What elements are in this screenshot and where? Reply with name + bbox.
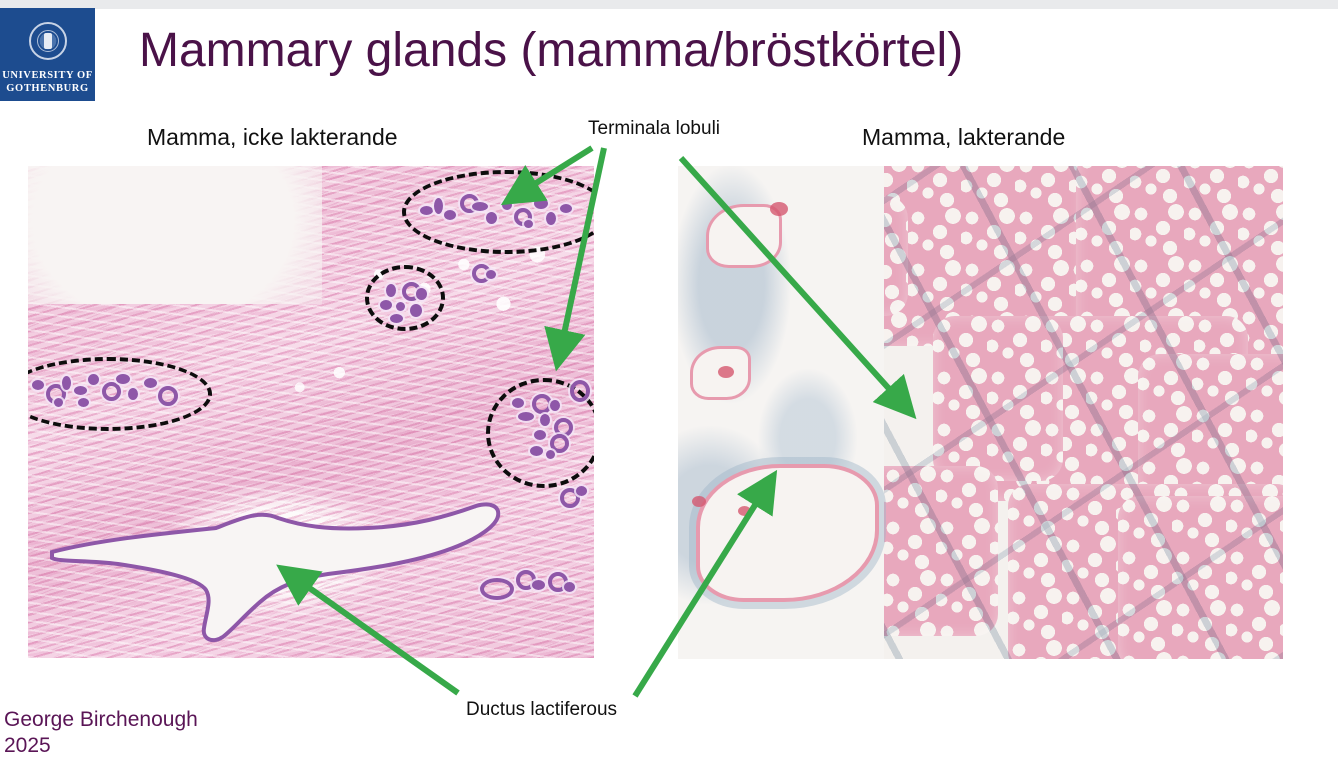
slide-title: Mammary glands (mamma/bröstkörtel) (139, 22, 1139, 80)
caption-terminala-lobuli: Terminala lobuli (588, 118, 720, 140)
vessel-spot-3 (692, 496, 706, 507)
caption-ductus-lactiferous: Ductus lactiferous (466, 699, 617, 721)
caption-left-image: Mamma, icke lakterande (147, 124, 398, 151)
footer-author: George Birchenough 2025 (4, 707, 198, 759)
caption-right-image: Mamma, lakterande (862, 124, 1065, 151)
author-year: 2025 (4, 733, 198, 759)
top-band (0, 0, 1338, 9)
logo-line-2: GOTHENBURG (6, 82, 88, 95)
university-seal-icon (29, 22, 67, 60)
logo-line-1: UNIVERSITY OF (2, 69, 93, 82)
non-lactating-mammary-gland-histology (28, 166, 594, 658)
author-name: George Birchenough (4, 707, 198, 733)
vessel-spot-4 (738, 506, 751, 516)
duct-profile-upper-left (706, 204, 782, 268)
vessel-spot-2 (718, 366, 734, 378)
lactiferous-duct-left (28, 166, 594, 658)
lactating-mammary-gland-histology (678, 166, 1283, 659)
vessel-spot-1 (770, 202, 788, 216)
university-of-gothenburg-logo: UNIVERSITY OF GOTHENBURG (0, 8, 95, 101)
